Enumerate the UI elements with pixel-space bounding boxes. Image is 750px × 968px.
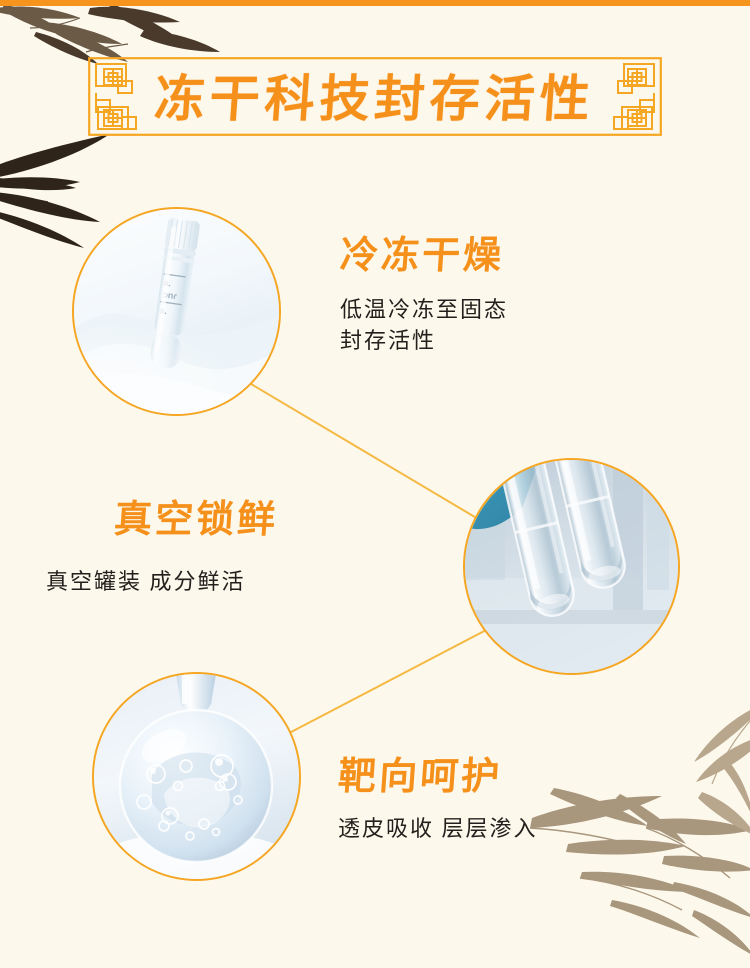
feature-block-1: 冷冻干燥 低温冷冻至固态 封存活性 — [340, 236, 508, 356]
feature-3-description-line1: 透皮吸收 层层渗入 — [338, 813, 538, 844]
feature-block-2: 真空锁鲜 真空罐装 成分鲜活 — [46, 500, 278, 597]
feature-image-3-gel-droplet — [92, 672, 301, 881]
feature-1-description: 低温冷冻至固态 封存活性 — [340, 294, 508, 356]
feature-2-title: 真空锁鲜 — [113, 500, 280, 542]
feature-3-description: 透皮吸收 层层渗入 — [338, 813, 538, 844]
feature-1-description-line2: 封存活性 — [340, 325, 508, 356]
page-title: 冻干科技封存活性 — [85, 55, 665, 134]
promo-page: 冻干科技封存活性 — [0, 0, 750, 968]
top-accent-bar — [0, 0, 750, 6]
feature-1-description-line1: 低温冷冻至固态 — [340, 294, 508, 325]
cryovial-in-frost-photo: a. ɔnɾ a. — [74, 209, 279, 414]
bamboo-leaves-bottom-right-decoration — [524, 760, 750, 968]
feature-image-2-test-tubes — [463, 458, 680, 675]
feature-2-description-line1: 真空罐装 成分鲜活 — [46, 566, 278, 597]
feature-block-3: 靶向呵护 透皮吸收 层层渗入 — [338, 757, 538, 844]
glass-test-tubes-photo — [465, 460, 678, 673]
feature-2-description: 真空罐装 成分鲜活 — [46, 566, 278, 597]
feature-1-title: 冷冻干燥 — [339, 236, 510, 278]
title-frame: 冻干科技封存活性 — [88, 57, 662, 136]
gel-droplet-bubbles-photo — [94, 674, 299, 879]
feature-3-title: 靶向呵护 — [337, 757, 539, 799]
bamboo-leaves-right-decoration — [606, 700, 750, 850]
feature-image-1-cryovial: a. ɔnɾ a. — [72, 207, 281, 416]
